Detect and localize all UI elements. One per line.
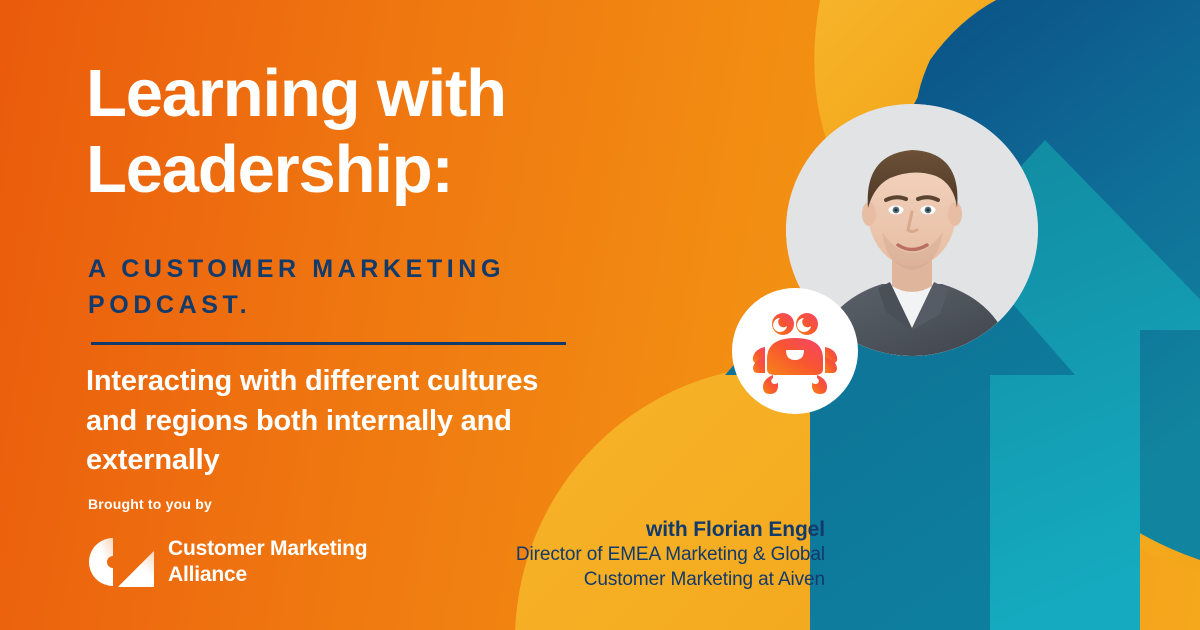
page-title: Learning with Leadership:	[86, 56, 706, 209]
sponsor-logo: Customer Marketing Alliance	[88, 536, 367, 587]
cma-monogram-icon	[88, 537, 154, 587]
podcast-kicker: A Customer Marketing Podcast.	[88, 252, 628, 323]
guest-role: Director of EMEA Marketing & Global Cust…	[405, 543, 825, 592]
podcast-promo-poster: Learning with Leadership: A Customer Mar…	[0, 0, 1200, 630]
aiven-badge	[732, 288, 858, 414]
guest-credit: with Florian Engel Director of EMEA Mark…	[405, 516, 825, 592]
episode-topic: Interacting with different cultures and …	[86, 362, 556, 481]
sponsor-name: Customer Marketing Alliance	[168, 536, 367, 587]
aiven-crab-icon	[747, 303, 843, 399]
guest-name: with Florian Engel	[405, 516, 825, 543]
divider-rule	[91, 342, 566, 345]
brought-to-you-by-label: Brought to you by	[88, 496, 212, 512]
